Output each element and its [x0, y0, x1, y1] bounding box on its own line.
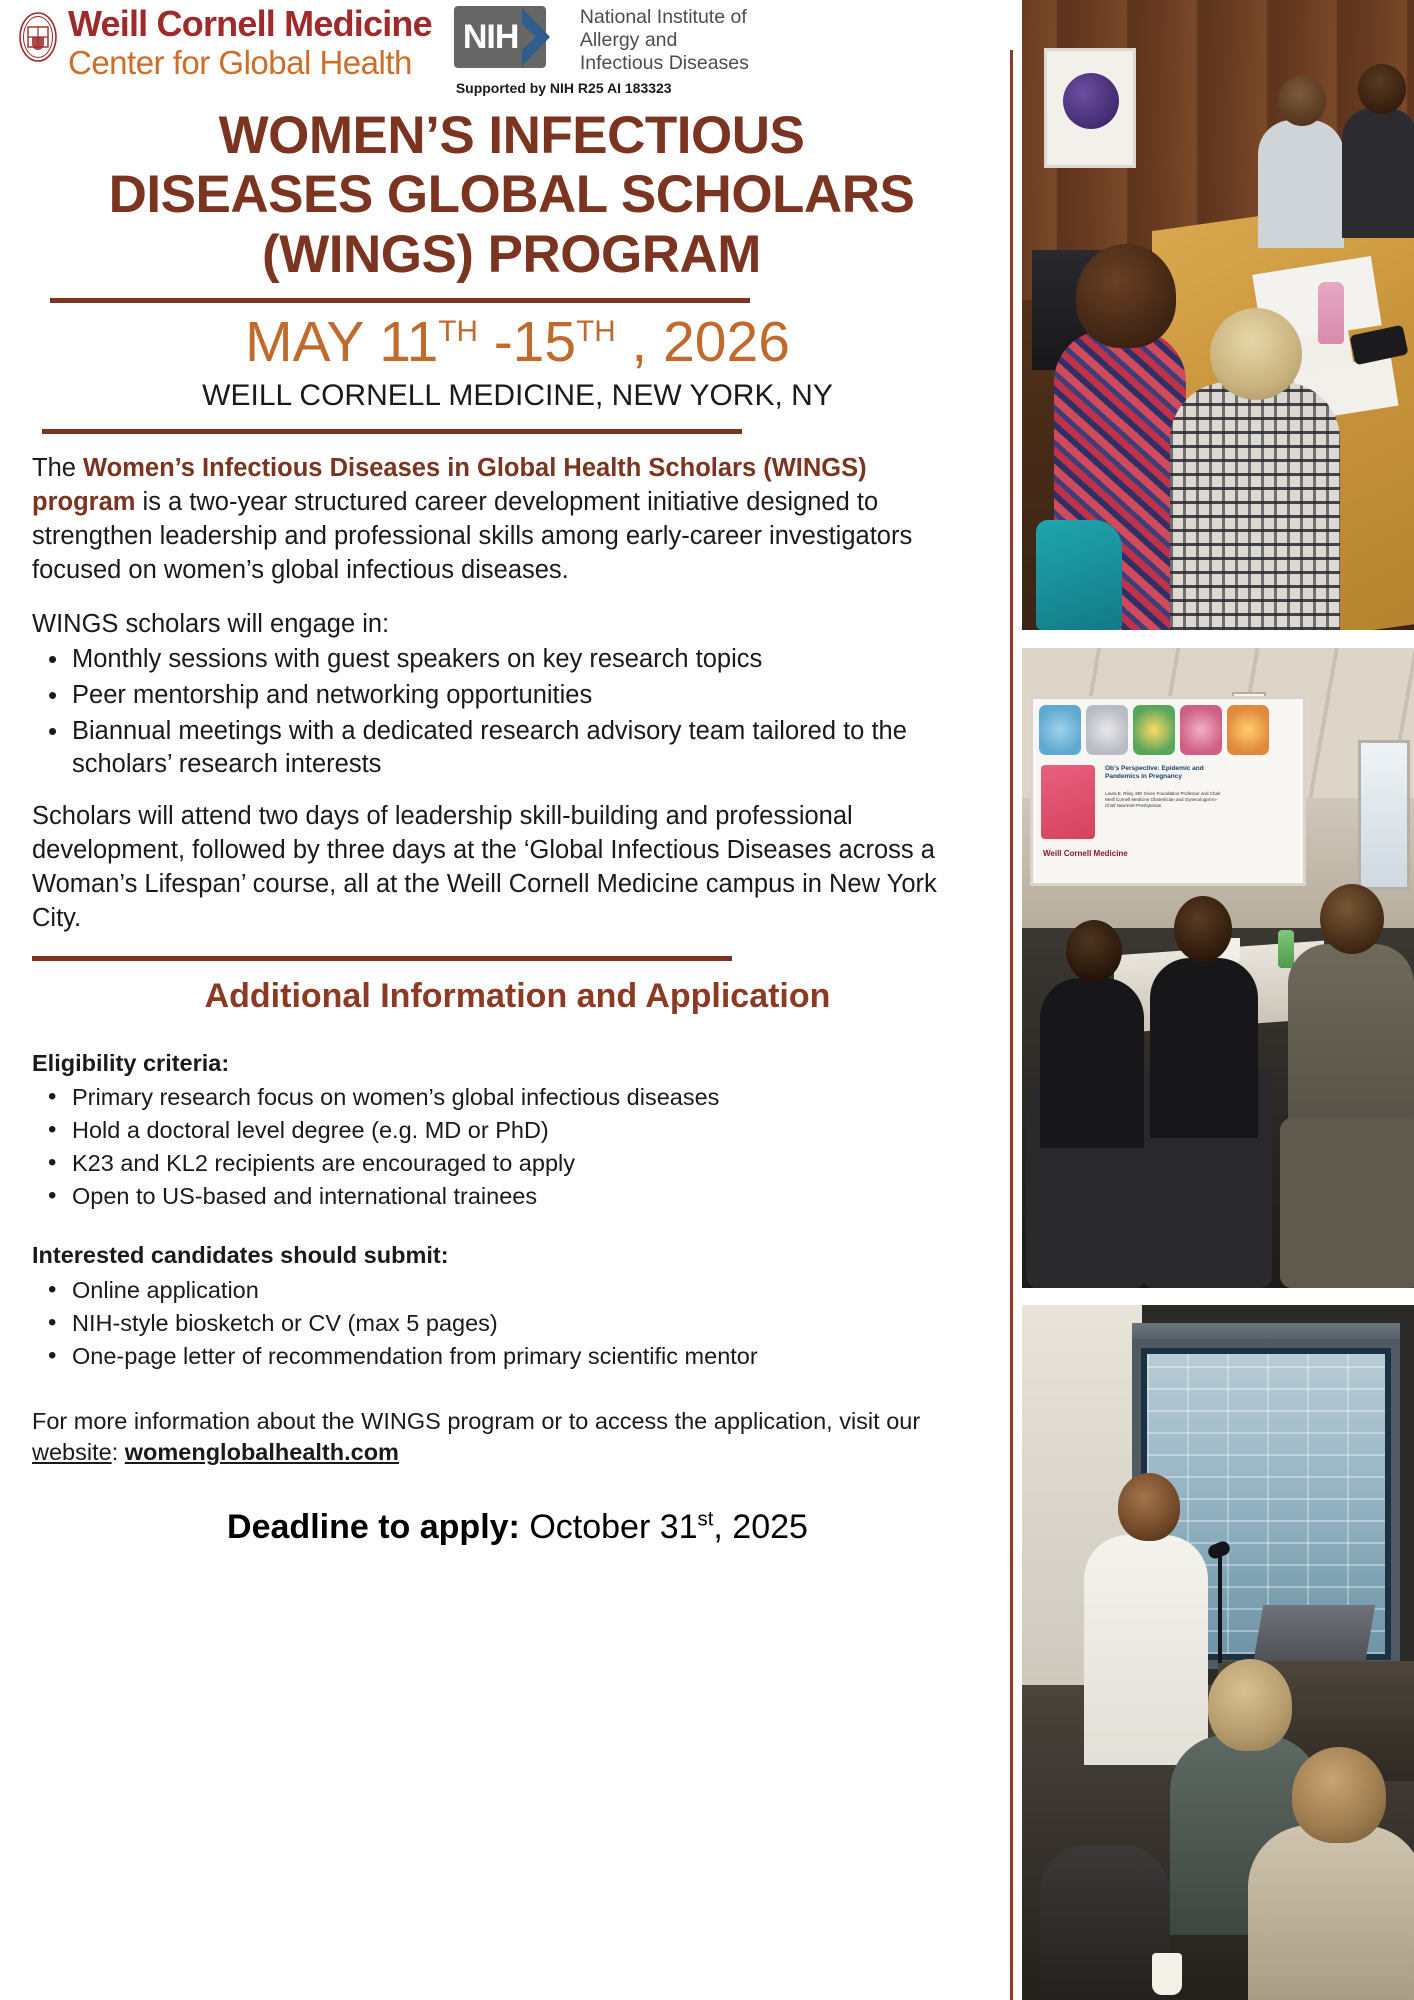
intro-paragraph: The Women’s Infectious Diseases in Globa…: [32, 452, 975, 588]
laptop: [1253, 1605, 1376, 1665]
microphone-stand: [1218, 1553, 1222, 1663]
deadline-label: Deadline to apply:: [227, 1508, 520, 1546]
seated-person-far-right: [1342, 108, 1414, 238]
list-item: Online application: [32, 1275, 975, 1306]
slide-logo: Weill Cornell Medicine: [1043, 849, 1128, 858]
body-content: The Women’s Infectious Diseases in Globa…: [0, 452, 1005, 936]
audience-member-front: [1248, 1825, 1414, 2000]
nih-grant-support-text: Supported by NIH R25 AI 183323: [456, 80, 749, 96]
website-link[interactable]: womenglobalhealth.com: [125, 1439, 399, 1465]
title-line-1: WOMEN’S INFECTIOUS: [30, 106, 993, 165]
engagement-intro: WINGS scholars will engage in:: [32, 608, 975, 642]
virus-icon: [1180, 705, 1222, 755]
audience-head: [1320, 884, 1384, 954]
intro-suffix: is a two-year structured career developm…: [32, 488, 912, 584]
green-bottle: [1278, 930, 1294, 968]
speaker-body: [1084, 1535, 1208, 1765]
flyer-page: Weill Cornell Medicine Center for Global…: [0, 0, 1414, 2000]
list-item: K23 and KL2 recipients are encouraged to…: [32, 1148, 975, 1179]
closing-paragraph: Scholars will attend two days of leaders…: [32, 800, 975, 936]
paper-cup: [1152, 1953, 1182, 1995]
deadline-date-post: , 2025: [713, 1508, 808, 1546]
deadline-date-pre: October 31: [520, 1508, 698, 1546]
date-range-middle: -15: [478, 310, 576, 374]
photo-column: Ob’s Perspective: Epidemic and Pandemics…: [1022, 0, 1414, 2000]
date-ordinal-1: TH: [438, 315, 478, 348]
event-venue: WEILL CORNELL MEDICINE, NEW YORK, NY: [0, 379, 1005, 413]
list-item: Primary research focus on women’s global…: [32, 1082, 975, 1113]
intro-prefix: The: [32, 454, 83, 482]
niaid-line2: Allergy and: [580, 29, 749, 52]
projection-screen: Ob’s Perspective: Epidemic and Pandemics…: [1030, 696, 1306, 886]
divider-rule-middle: [42, 429, 742, 434]
date-month-day: MAY 11: [245, 310, 438, 374]
submission-heading: Interested candidates should submit:: [32, 1240, 975, 1271]
nih-mark-label: NIH: [463, 18, 519, 57]
date-ordinal-2: TH: [576, 315, 616, 348]
virus-icon: [1039, 705, 1081, 755]
list-item: Open to US-based and international train…: [32, 1181, 975, 1212]
cornell-shield-icon: [18, 12, 58, 62]
vertical-divider: [1010, 50, 1013, 2000]
office-chair: [1280, 1118, 1414, 1288]
niaid-line3: Infectious Diseases: [580, 52, 749, 75]
list-item: Hold a doctoral level degree (e.g. MD or…: [32, 1115, 975, 1146]
wall-artwork: [1044, 48, 1136, 168]
seated-person-far-left: [1258, 120, 1344, 248]
title-block: WOMEN’S INFECTIOUS DISEASES GLOBAL SCHOL…: [0, 106, 1005, 284]
wcm-name-line1: Weill Cornell Medicine: [68, 6, 432, 42]
date-year: , 2026: [616, 310, 790, 374]
virus-icon: [1086, 705, 1128, 755]
divider-rule-bottom: [32, 956, 732, 961]
photo-lecture-presentation: Ob’s Perspective: Epidemic and Pandemics…: [1022, 648, 1414, 1288]
deadline-line: Deadline to apply: October 31st, 2025: [0, 1508, 1005, 1547]
photo-conference-room-discussion: [1022, 0, 1414, 630]
audience-head: [1066, 920, 1122, 982]
niaid-logo: NIH National Institute of Allergy and In…: [454, 6, 749, 96]
virus-illustration-row: [1039, 705, 1303, 761]
list-item: Biannual meetings with a dedicated resea…: [32, 715, 975, 782]
submission-list: Online application NIH-style biosketch o…: [32, 1275, 975, 1372]
slide-presenter-info: Laura E. Riley, MD Given Foundation Prof…: [1105, 791, 1225, 809]
slide-title: Ob’s Perspective: Epidemic and Pandemics…: [1105, 765, 1235, 781]
window: [1358, 740, 1410, 890]
audience-member-left: [1040, 1845, 1170, 2000]
audience-member-center: [1150, 958, 1258, 1138]
list-item: Monthly sessions with guest speakers on …: [32, 643, 975, 677]
more-info-prefix: For more information about the WINGS pro…: [32, 1408, 920, 1434]
audience-head: [1174, 896, 1232, 962]
nih-chevron-icon: [520, 6, 554, 68]
engagement-list: Monthly sessions with guest speakers on …: [32, 643, 975, 782]
logo-bar: Weill Cornell Medicine Center for Global…: [0, 0, 1005, 98]
application-content: Eligibility criteria: Primary research f…: [0, 1048, 1005, 1372]
list-item: One-page letter of recommendation from p…: [32, 1341, 975, 1372]
virus-icon: [1227, 705, 1269, 755]
audience-member-left: [1040, 978, 1144, 1148]
title-line-2: DISEASES GLOBAL SCHOLARS: [30, 165, 993, 224]
virus-icon: [1133, 705, 1175, 755]
list-item: Peer mentorship and networking opportuni…: [32, 679, 975, 713]
water-bottle: [1318, 282, 1344, 344]
event-date: MAY 11TH -15TH , 2026: [0, 313, 1005, 373]
speaker-head: [1118, 1473, 1180, 1541]
wcm-name-line2: Center for Global Health: [68, 46, 432, 79]
page-title: WOMEN’S INFECTIOUS DISEASES GLOBAL SCHOL…: [30, 106, 993, 284]
eligibility-list: Primary research focus on women’s global…: [32, 1082, 975, 1212]
website-word[interactable]: website: [32, 1439, 112, 1465]
photo-speaker-at-podium: [1022, 1305, 1414, 2000]
weill-cornell-logo: Weill Cornell Medicine Center for Global…: [18, 6, 432, 79]
title-line-3: (WINGS) PROGRAM: [30, 225, 993, 284]
teal-bag: [1036, 520, 1122, 630]
list-item: NIH-style biosketch or CV (max 5 pages): [32, 1308, 975, 1339]
more-info-colon: :: [112, 1439, 125, 1465]
more-information-paragraph: For more information about the WINGS pro…: [0, 1406, 1005, 1468]
divider-rule-top: [50, 298, 750, 303]
left-content-column: Weill Cornell Medicine Center for Global…: [0, 0, 1005, 2000]
nih-mark: NIH: [454, 6, 546, 68]
niaid-line1: National Institute of: [580, 6, 749, 29]
seated-person-tweed-jacket: [1170, 382, 1340, 630]
application-section-heading: Additional Information and Application: [0, 977, 1005, 1016]
deadline-ordinal: st: [698, 1509, 714, 1531]
eligibility-heading: Eligibility criteria:: [32, 1048, 975, 1079]
niaid-institute-name: National Institute of Allergy and Infect…: [580, 6, 749, 75]
slide-accent-block: [1041, 765, 1095, 839]
